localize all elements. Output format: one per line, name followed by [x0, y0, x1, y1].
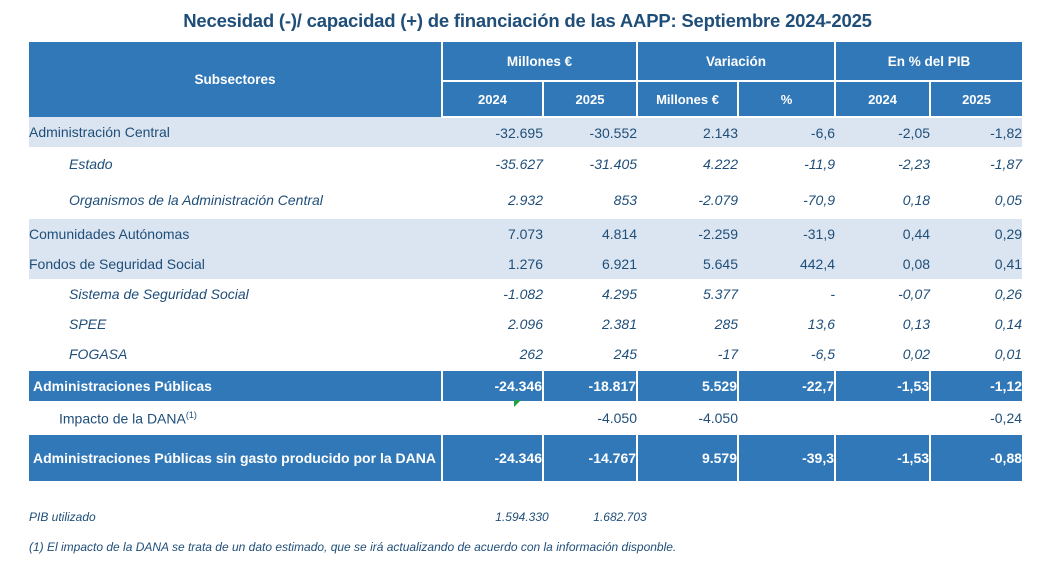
comment-marker-icon [514, 400, 521, 407]
row-value: -39,3 [738, 434, 835, 482]
row-value: 0,29 [930, 219, 1022, 249]
row-value: -1,82 [930, 117, 1022, 147]
column-group-millones-eur: Millones € [442, 42, 637, 81]
row-label: Estado [29, 147, 442, 181]
row-value: -0,24 [930, 402, 1022, 434]
row-value: -22,7 [738, 370, 835, 402]
row-value: -0,07 [835, 279, 930, 309]
row-label: Administración Central [29, 117, 442, 147]
row-value: -24.346 [442, 370, 543, 402]
row-value: -1.082 [442, 279, 543, 309]
row-value: 0,14 [930, 309, 1022, 339]
footnote-text: (1) El impacto de la DANA se trata de un… [29, 540, 676, 554]
row-value: -1,53 [835, 370, 930, 402]
row-value: -35.627 [442, 147, 543, 181]
row-value: -6,5 [738, 339, 835, 370]
pib-utilizado-2025: 1.682.703 [573, 510, 667, 524]
financing-table: Subsectores Millones € Variación En % de… [29, 42, 1022, 483]
table-row: FOGASA262245-17-6,50,020,01 [29, 339, 1022, 370]
row-value: 2.932 [442, 181, 543, 219]
row-value: 2.143 [637, 117, 738, 147]
financing-table-container: Subsectores Millones € Variación En % de… [29, 42, 1022, 483]
row-value: 5.529 [637, 370, 738, 402]
row-label: Comunidades Autónomas [29, 219, 442, 249]
row-value: -6,6 [738, 117, 835, 147]
row-value: -24.346 [442, 434, 543, 482]
row-value: -32.695 [442, 117, 543, 147]
row-label: Administraciones Públicas sin gasto prod… [29, 434, 442, 482]
row-value: 442,4 [738, 249, 835, 279]
row-value: 4.222 [637, 147, 738, 181]
row-value: -1,12 [930, 370, 1022, 402]
row-value: 245 [543, 339, 637, 370]
table-row: Administraciones Públicas-24.346-18.8175… [29, 370, 1022, 402]
row-value: -1,53 [835, 434, 930, 482]
row-value: 0,13 [835, 309, 930, 339]
row-value: -2,23 [835, 147, 930, 181]
table-row: Impacto de la DANA(1)-4.050-4.050-0,24 [29, 402, 1022, 434]
column-header-millones-2025: 2025 [543, 81, 637, 117]
row-value: -2.259 [637, 219, 738, 249]
row-value: 6.921 [543, 249, 637, 279]
header-row-groups: Subsectores Millones € Variación En % de… [29, 42, 1022, 81]
row-label: SPEE [29, 309, 442, 339]
row-value: 0,26 [930, 279, 1022, 309]
column-group-pct-pib: En % del PIB [835, 42, 1022, 81]
row-value: -17 [637, 339, 738, 370]
column-header-variacion-millones: Millones € [637, 81, 738, 117]
row-value: 5.377 [637, 279, 738, 309]
row-value: 0,18 [835, 181, 930, 219]
table-row: Administraciones Públicas sin gasto prod… [29, 434, 1022, 482]
row-value [442, 402, 543, 434]
row-label: Fondos de Seguridad Social [29, 249, 442, 279]
table-row: Fondos de Seguridad Social1.2766.9215.64… [29, 249, 1022, 279]
row-label: FOGASA [29, 339, 442, 370]
table-row: Estado-35.627-31.4054.222-11,9-2,23-1,87 [29, 147, 1022, 181]
footnote-marker: (1) [186, 410, 197, 420]
row-value: 0,05 [930, 181, 1022, 219]
page-title: Necesidad (-)/ capacidad (+) de financia… [0, 0, 1055, 32]
row-value: 0,01 [930, 339, 1022, 370]
row-value: 0,08 [835, 249, 930, 279]
table-row: Sistema de Seguridad Social-1.0824.2955.… [29, 279, 1022, 309]
row-value: 262 [442, 339, 543, 370]
table-body: Administración Central-32.695-30.5522.14… [29, 117, 1022, 482]
column-header-variacion-pct: % [738, 81, 835, 117]
row-value: -0,88 [930, 434, 1022, 482]
row-value: -2,05 [835, 117, 930, 147]
row-value: -1,87 [930, 147, 1022, 181]
row-value: 9.579 [637, 434, 738, 482]
table-row: Comunidades Autónomas7.0734.814-2.259-31… [29, 219, 1022, 249]
row-value: -4.050 [543, 402, 637, 434]
row-value: - [738, 279, 835, 309]
row-value: -14.767 [543, 434, 637, 482]
row-label: Organismos de la Administración Central [29, 181, 442, 219]
row-value: -18.817 [543, 370, 637, 402]
table-row: Organismos de la Administración Central2… [29, 181, 1022, 219]
row-value [835, 402, 930, 434]
row-value: 7.073 [442, 219, 543, 249]
column-header-millones-2024: 2024 [442, 81, 543, 117]
column-group-variacion: Variación [637, 42, 835, 81]
pib-utilizado-label: PIB utilizado [29, 510, 96, 524]
row-value: 4.814 [543, 219, 637, 249]
row-value: 2.096 [442, 309, 543, 339]
row-label: Sistema de Seguridad Social [29, 279, 442, 309]
column-header-pib-2025: 2025 [930, 81, 1022, 117]
row-value: 0,02 [835, 339, 930, 370]
pib-utilizado-2024: 1.594.330 [472, 510, 572, 524]
row-value: 5.645 [637, 249, 738, 279]
row-value: -11,9 [738, 147, 835, 181]
row-value: -31.405 [543, 147, 637, 181]
row-value: 13,6 [738, 309, 835, 339]
row-value: 1.276 [442, 249, 543, 279]
row-value: 0,41 [930, 249, 1022, 279]
table-row: Administración Central-32.695-30.5522.14… [29, 117, 1022, 147]
row-label: Administraciones Públicas [29, 370, 442, 402]
row-label: Impacto de la DANA(1) [29, 402, 442, 434]
table-head: Subsectores Millones € Variación En % de… [29, 42, 1022, 117]
row-value: 2.381 [543, 309, 637, 339]
row-value: -4.050 [637, 402, 738, 434]
row-value: -31,9 [738, 219, 835, 249]
row-value: 4.295 [543, 279, 637, 309]
row-value: -30.552 [543, 117, 637, 147]
row-value: 853 [543, 181, 637, 219]
row-value: 0,44 [835, 219, 930, 249]
row-value: -2.079 [637, 181, 738, 219]
column-header-subsectores: Subsectores [29, 42, 442, 117]
row-value [738, 402, 835, 434]
column-header-pib-2024: 2024 [835, 81, 930, 117]
row-value: -70,9 [738, 181, 835, 219]
table-row: SPEE2.0962.38128513,60,130,14 [29, 309, 1022, 339]
row-value: 285 [637, 309, 738, 339]
